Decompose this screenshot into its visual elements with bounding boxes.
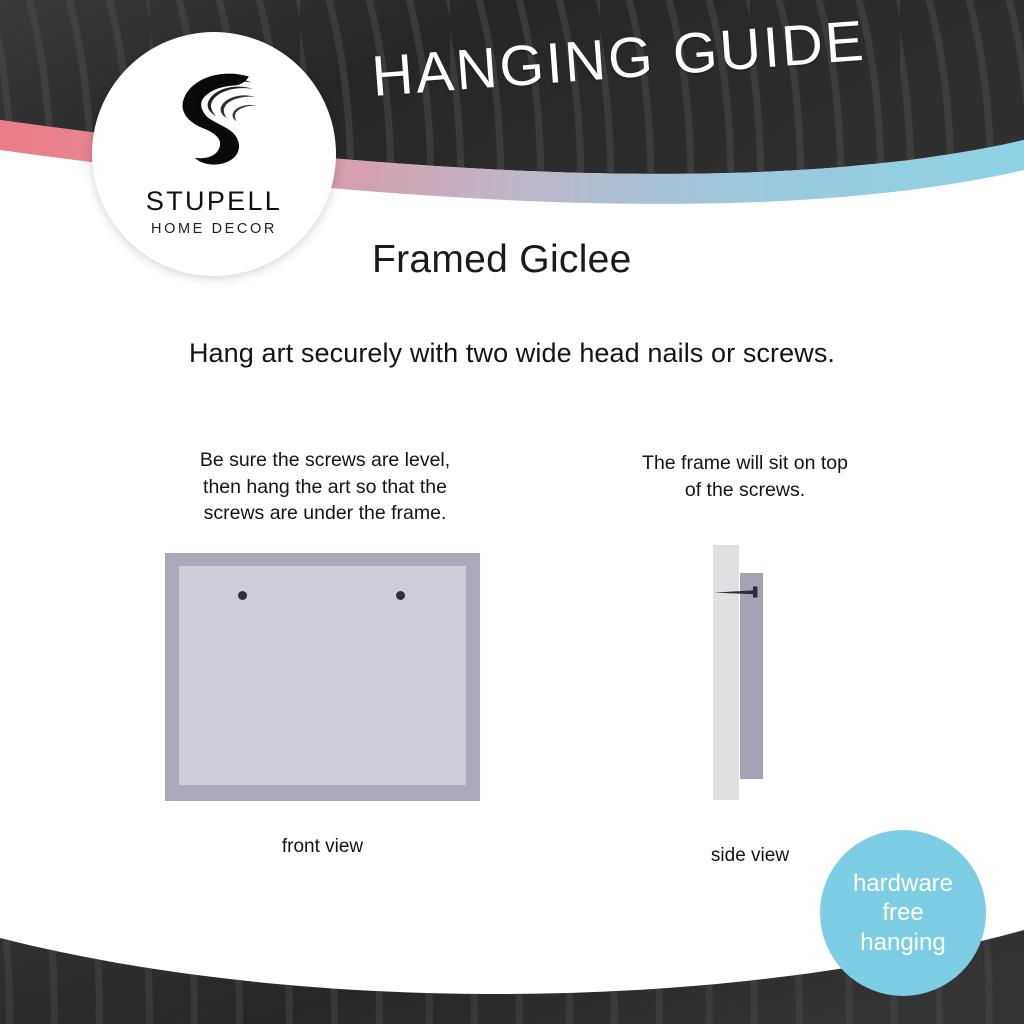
front-view-caption: Be sure the screws are level, then hang … bbox=[160, 447, 490, 527]
caption-line: then hang the art so that the bbox=[160, 474, 490, 501]
badge-line: free bbox=[882, 898, 923, 927]
caption-line: The frame will sit on top bbox=[600, 450, 890, 477]
side-view-label: side view bbox=[660, 845, 840, 867]
screw-dot-right-icon bbox=[396, 591, 405, 600]
product-type-heading: Framed Giclee bbox=[372, 238, 632, 282]
front-view-label: front view bbox=[165, 836, 480, 858]
brand-wordmark: STUPELL bbox=[146, 188, 282, 215]
page-title: HANGING GUIDE bbox=[370, 6, 893, 110]
brand-logo-badge: STUPELL HOME DECOR bbox=[92, 32, 336, 276]
screw-dot-left-icon bbox=[238, 591, 247, 600]
stupell-s-swoosh-icon bbox=[156, 62, 272, 180]
frame-cross-section bbox=[740, 573, 763, 779]
brand-subwordmark: HOME DECOR bbox=[151, 222, 277, 237]
caption-line: of the screws. bbox=[600, 477, 890, 504]
frame-mat-area bbox=[179, 566, 466, 785]
badge-line: hardware bbox=[853, 869, 953, 898]
caption-line: screws are under the frame. bbox=[160, 500, 490, 527]
hanging-guide-page: STUPELL HOME DECOR HANGING GUIDE Framed … bbox=[0, 0, 1024, 1024]
wall-cross-section bbox=[713, 545, 739, 800]
main-instruction-text: Hang art securely with two wide head nai… bbox=[0, 338, 1024, 369]
hardware-free-hanging-badge: hardware free hanging bbox=[820, 830, 986, 996]
badge-line: hanging bbox=[860, 928, 945, 957]
front-view-frame-diagram bbox=[165, 553, 480, 801]
caption-line: Be sure the screws are level, bbox=[160, 447, 490, 474]
side-view-caption: The frame will sit on top of the screws. bbox=[600, 450, 890, 503]
nail-icon bbox=[714, 585, 762, 599]
side-view-frame-diagram bbox=[705, 545, 795, 805]
